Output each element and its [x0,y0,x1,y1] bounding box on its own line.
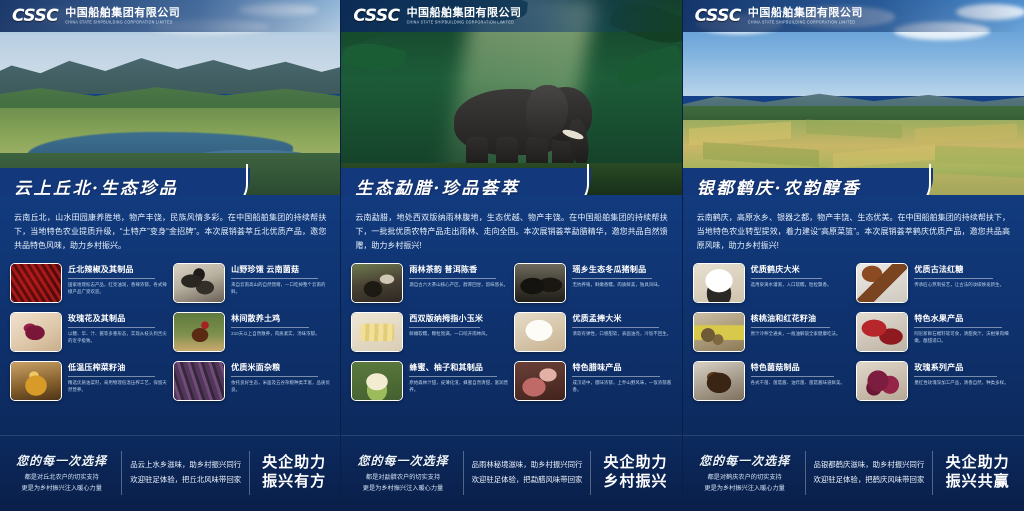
product-card[interactable]: 山野珍馐 云南菌菇 来自云南高山的自然馈赠，一口吃掉整个云南的鲜。 [173,263,330,307]
footer-invite-block: 品银都鹤庆滋味，助乡村振兴同行 欢迎驻足体验，把鹤庆风味带回家 [813,458,924,488]
product-thumbnail [351,361,403,401]
cssc-english-name: CHINA STATE SHIPBUILDING CORPORATION LIM… [65,21,180,25]
product-thumbnail [10,312,62,352]
divider [751,376,834,377]
product-card[interactable]: 西双版纳拇指小玉米 鲜嫩软糯，颗粒饱满，一口咬开雨林风。 [351,312,508,356]
divider [409,327,480,328]
product-desc: 原汁冷榨全通关，一瓶油解锁全家健康吃法。 [751,331,841,338]
product-thumbnail [10,361,62,401]
footer-invite-line: 品云上水乡滋味，助乡村振兴同行 [130,458,241,473]
divider [121,451,122,495]
product-card[interactable]: 优质鹤庆大米 选用泉滴水灌溉，入口软糯，粒粒飘香。 [693,263,851,307]
hero-heqing: CSSC 中国船舶集团有限公司 CHINA STATE SHIPBUILDING… [683,0,1024,195]
footer-sub-line: 都是对丘北农户的切实支持 [10,473,113,484]
product-desc: 依托良好生态，米面及五谷杂粮种类丰富，品质优良。 [231,380,330,394]
footer-headline-line: 振兴有方 [258,473,330,492]
product-card[interactable]: 林间散养土鸡 210天以上自然散养，肉质紧实，汤味浓郁。 [173,312,330,356]
product-desc: 精选优质油菜籽，采用物理低温压榨工艺，保留天然营养。 [68,380,167,394]
divider [231,376,318,377]
product-thumbnail [856,263,908,303]
divider [572,327,659,328]
product-card[interactable]: 低温压榨菜籽油 精选优质油菜籽，采用物理低温压榨工艺，保留天然营养。 [10,361,167,405]
divider [409,376,496,377]
footer-invite-block: 品云上水乡滋味，助乡村振兴同行 欢迎驻足体验，把丘北风味带回家 [130,458,241,488]
title-ribbon-heqing: 银都鹤庆·农韵醇香 [683,168,933,195]
product-desc: 原始森林汁甜，皮薄化渣，蜂蜜自然清甜，富润营养。 [409,380,508,394]
title-ribbon-qiubei: 云上丘北·生态珍品 [0,168,250,195]
divider [914,327,1002,328]
product-desc: 清软有弹性，口感甜软，表面油亮，冷饭不回生。 [572,331,671,338]
panel-heqing: CSSC 中国船舶集团有限公司 CHINA STATE SHIPBUILDING… [683,0,1024,511]
divider [231,327,309,328]
footer-slogan-block: 您的每一次选择 都是对鹤庆农户的切实支持 更是为乡村振兴注入暖心力量 [693,452,797,494]
product-card[interactable]: 蜂蜜、柚子和其制品 原始森林汁甜，皮薄化渣，蜂蜜自然清甜，富润营养。 [351,361,508,405]
product-thumbnail [351,312,403,352]
product-desc: 国家地理标志产品，红亮油润，香辣浓郁，各式辣椒产品广受欢迎。 [68,282,167,296]
panel-qiubei: CSSC 中国船舶集团有限公司 CHINA STATE SHIPBUILDING… [0,0,341,511]
footer-sub-line: 都是对鹤庆农户的切实支持 [693,473,797,484]
product-name: 山野珍馐 云南菌菇 [231,266,330,275]
footer-invite-line: 品雨林秘境滋味，助乡村振兴同行 [472,458,583,473]
divider [932,451,933,495]
panel-intro: 云南丘北，山水田园康养胜地，物产丰饶，民族风情多彩。在中国船舶集团的持续帮扶下，… [0,195,340,261]
cssc-chinese-name: 中国船舶集团有限公司 [748,8,863,19]
divider [249,451,250,495]
footer-headline-line: 央企助力 [258,454,330,473]
three-panel-board: CSSC 中国船舶集团有限公司 CHINA STATE SHIPBUILDING… [0,0,1024,511]
product-grid-qiubei: 丘北辣椒及其制品 国家地理标志产品，红亮油润，香辣浓郁，各式辣椒产品广受欢迎。 … [0,261,340,405]
product-card[interactable]: 特色菌菇制品 各式干菌、菌菇酱、油炸菌、菌菇酱味道鲜美。 [693,361,851,405]
panel-intro: 云南鹤庆，高原水乡、银器之都，物产丰饶、生态优美。在中国船舶集团的持续帮扶下，当… [683,195,1024,261]
cssc-logo-mark: CSSC [695,6,741,26]
divider [572,278,651,279]
footer-headline-block: 央企助力 振兴有方 [258,454,330,492]
footer-script-slogan: 您的每一次选择 [10,452,113,469]
product-thumbnail [856,312,908,352]
panel-title: 生态勐腊·珍品荟萃 [341,174,519,196]
divider [68,327,155,328]
brand-logo-bar: CSSC 中国船舶集团有限公司 CHINA STATE SHIPBUILDING… [0,0,340,32]
product-thumbnail [351,263,403,303]
footer-qiubei: 您的每一次选择 都是对丘北农户的切实支持 更是为乡村振兴注入暖心力量 品云上水乡… [0,435,340,511]
hero-qiubei: CSSC 中国船舶集团有限公司 CHINA STATE SHIPBUILDING… [0,0,340,195]
product-name: 玫瑰系列产品 [914,364,1008,373]
cssc-logo-mark: CSSC [353,6,399,26]
product-card[interactable]: 玫瑰系列产品 墨红性玫瑰深加工产品，清香自然，种类多样。 [856,361,1014,405]
footer-heqing: 您的每一次选择 都是对鹤庆农户的切实支持 更是为乡村振兴注入暖心力量 品银都鹤庆… [683,435,1024,511]
product-card[interactable]: 特色腊味产品 成汉适中，腊味浓郁，上乔山野风味，一饭浓郁酱香。 [514,361,671,405]
product-name: 丘北辣椒及其制品 [68,266,167,275]
product-desc: 源自古六大茶山核心产区，醇厚回甘，韵味悠长。 [409,282,508,289]
panel-title: 云上丘北·生态珍品 [0,174,178,196]
footer-headline-line: 振兴共赢 [941,473,1014,492]
product-desc: 以糖、华、汁、酱等多重形态，实现从枝头到舌尖的近乎极致。 [68,331,167,345]
footer-slogan-block: 您的每一次选择 都是对勐腊农户的切实支持 更是为乡村振兴注入暖心力量 [351,452,454,494]
divider [68,278,155,279]
product-thumbnail [693,263,745,303]
footer-headline-line: 央企助力 [599,454,671,473]
product-thumbnail [514,263,566,303]
divider [68,376,155,377]
product-desc: 成汉适中，腊味浓郁，上乔山野风味，一饭浓郁酱香。 [572,380,671,394]
footer-invite-line: 欢迎驻足体验，把勐腊风味带回家 [472,473,583,488]
product-desc: 传承匠心熬制技艺，让古法的攻碳焕发新生。 [914,282,1004,289]
product-thumbnail [693,361,745,401]
footer-sub-line: 更是为乡村振兴注入暖心力量 [351,484,454,495]
footer-sub-line: 更是为乡村振兴注入暖心力量 [693,484,797,495]
product-name: 低温压榨菜籽油 [68,364,167,373]
product-desc: 210天以上自然散养，肉质紧实，汤味浓郁。 [231,331,319,338]
product-thumbnail [514,361,566,401]
product-name: 核桃油和红花籽油 [751,315,841,324]
divider [231,278,318,279]
product-desc: 来自云南高山的自然馈赠，一口吃掉整个云南的鲜。 [231,282,330,296]
product-desc: 各式干菌、菌菇酱、油炸菌、菌菇酱味道鲜美。 [751,380,845,387]
product-name: 优质孟捧大米 [572,315,671,324]
product-card[interactable]: 优质孟捧大米 清软有弹性，口感甜软，表面油亮，冷饭不回生。 [514,312,671,356]
product-card[interactable]: 雨林茶韵 普洱陈香 源自古六大茶山核心产区，醇厚回甘，韵味悠长。 [351,263,508,307]
product-grid-heqing: 优质鹤庆大米 选用泉滴水灌溉，入口软糯，粒粒飘香。 优质古法红糖 传承匠心熬制技… [683,261,1024,405]
brand-logo-bar: CSSC 中国船舶集团有限公司 CHINA STATE SHIPBUILDING… [683,0,1024,32]
divider [914,376,997,377]
footer-script-slogan: 您的每一次选择 [693,452,797,469]
divider [463,451,464,495]
product-card[interactable]: 玫瑰花及其制品 以糖、华、汁、酱等多重形态，实现从枝头到舌尖的近乎极致。 [10,312,167,356]
footer-script-slogan: 您的每一次选择 [351,452,454,469]
title-ribbon-mengla: 生态勐腊·珍品荟萃 [341,168,591,195]
footer-headline-line: 乡村振兴 [599,473,671,492]
panel-intro: 云南勐腊，地处西双版纳雨林腹地，生态优越、物产丰饶。在中国船舶集团的持续帮扶下，… [341,195,681,261]
product-name: 蜂蜜、柚子和其制品 [409,364,508,373]
product-thumbnail [693,312,745,352]
product-name: 特色水果产品 [914,315,1014,324]
cssc-english-name: CHINA STATE SHIPBUILDING CORPORATION LIM… [407,21,522,25]
product-name: 雨林茶韵 普洱陈香 [409,266,508,275]
divider [409,278,496,279]
divider [805,451,806,495]
product-desc: 阿尼新鲜石榴籽软可食，清甜爽汁，沃柑果肉细嫩，酸甜适口。 [914,331,1014,345]
product-name: 瑶乡生态冬瓜猪制品 [572,266,662,275]
footer-mengla: 您的每一次选择 都是对勐腊农户的切实支持 更是为乡村振兴注入暖心力量 品雨林秘境… [341,435,681,511]
product-thumbnail [514,312,566,352]
product-thumbnail [856,361,908,401]
cssc-logo-mark: CSSC [12,6,58,26]
cssc-english-name: CHINA STATE SHIPBUILDING CORPORATION LIM… [748,21,863,25]
footer-slogan-block: 您的每一次选择 都是对丘北农户的切实支持 更是为乡村振兴注入暖心力量 [10,452,113,494]
panel-title: 银都鹤庆·农韵醇香 [683,174,861,196]
product-desc: 无抗养殖，鲜嫩香糯，肉质鲜美，独具风味。 [572,282,662,289]
product-card[interactable]: 优质米面杂粮 依托良好生态，米面及五谷杂粮种类丰富，品质优良。 [173,361,330,405]
product-name: 优质古法红糖 [914,266,1004,275]
product-card[interactable]: 瑶乡生态冬瓜猪制品 无抗养殖，鲜嫩香糯，肉质鲜美，独具风味。 [514,263,671,307]
footer-sub-line: 都是对勐腊农户的切实支持 [351,473,454,484]
footer-invite-line: 欢迎驻足体验，把丘北风味带回家 [130,473,241,488]
product-name: 西双版纳拇指小玉米 [409,315,490,324]
product-desc: 选用泉滴水灌溉，入口软糯，粒粒飘香。 [751,282,832,289]
product-card[interactable]: 优质古法红糖 传承匠心熬制技艺，让古法的攻碳焕发新生。 [856,263,1014,307]
product-grid-mengla: 雨林茶韵 普洱陈香 源自古六大茶山核心产区，醇厚回甘，韵味悠长。 瑶乡生态冬瓜猪… [341,261,681,405]
divider [914,278,993,279]
product-desc: 墨红性玫瑰深加工产品，清香自然，种类多样。 [914,380,1008,387]
footer-headline-block: 央企助力 乡村振兴 [599,454,671,492]
divider [751,327,830,328]
product-name: 玫瑰花及其制品 [68,315,167,324]
product-name: 优质鹤庆大米 [751,266,832,275]
product-card[interactable]: 特色水果产品 阿尼新鲜石榴籽软可食，清甜爽汁，沃柑果肉细嫩，酸甜适口。 [856,312,1014,356]
product-desc: 鲜嫩软糯，颗粒饱满，一口咬开雨林风。 [409,331,490,338]
footer-invite-block: 品雨林秘境滋味，助乡村振兴同行 欢迎驻足体验，把勐腊风味带回家 [472,458,583,488]
product-name: 特色菌菇制品 [751,364,845,373]
footer-sub-line: 更是为乡村振兴注入暖心力量 [10,484,113,495]
cssc-chinese-name: 中国船舶集团有限公司 [65,8,180,19]
footer-headline-block: 央企助力 振兴共赢 [941,454,1014,492]
cssc-chinese-name: 中国船舶集团有限公司 [407,8,522,19]
divider [572,376,659,377]
product-name: 优质米面杂粮 [231,364,330,373]
product-card[interactable]: 丘北辣椒及其制品 国家地理标志产品，红亮油润，香辣浓郁，各式辣椒产品广受欢迎。 [10,263,167,307]
product-thumbnail [173,312,225,352]
product-name: 林间散养土鸡 [231,315,319,324]
product-thumbnail [173,263,225,303]
brand-logo-bar: CSSC 中国船舶集团有限公司 CHINA STATE SHIPBUILDING… [341,0,681,32]
divider [590,451,591,495]
footer-invite-line: 欢迎驻足体验，把鹤庆风味带回家 [813,473,924,488]
panel-mengla: CSSC 中国船舶集团有限公司 CHINA STATE SHIPBUILDING… [341,0,682,511]
hero-mengla: CSSC 中国船舶集团有限公司 CHINA STATE SHIPBUILDING… [341,0,681,195]
elephant-illustration [430,75,600,171]
divider [751,278,822,279]
footer-invite-line: 品银都鹤庆滋味，助乡村振兴同行 [813,458,924,473]
product-thumbnail [10,263,62,303]
product-thumbnail [173,361,225,401]
product-card[interactable]: 核桃油和红花籽油 原汁冷榨全通关，一瓶油解锁全家健康吃法。 [693,312,851,356]
product-name: 特色腊味产品 [572,364,671,373]
footer-headline-line: 央企助力 [941,454,1014,473]
